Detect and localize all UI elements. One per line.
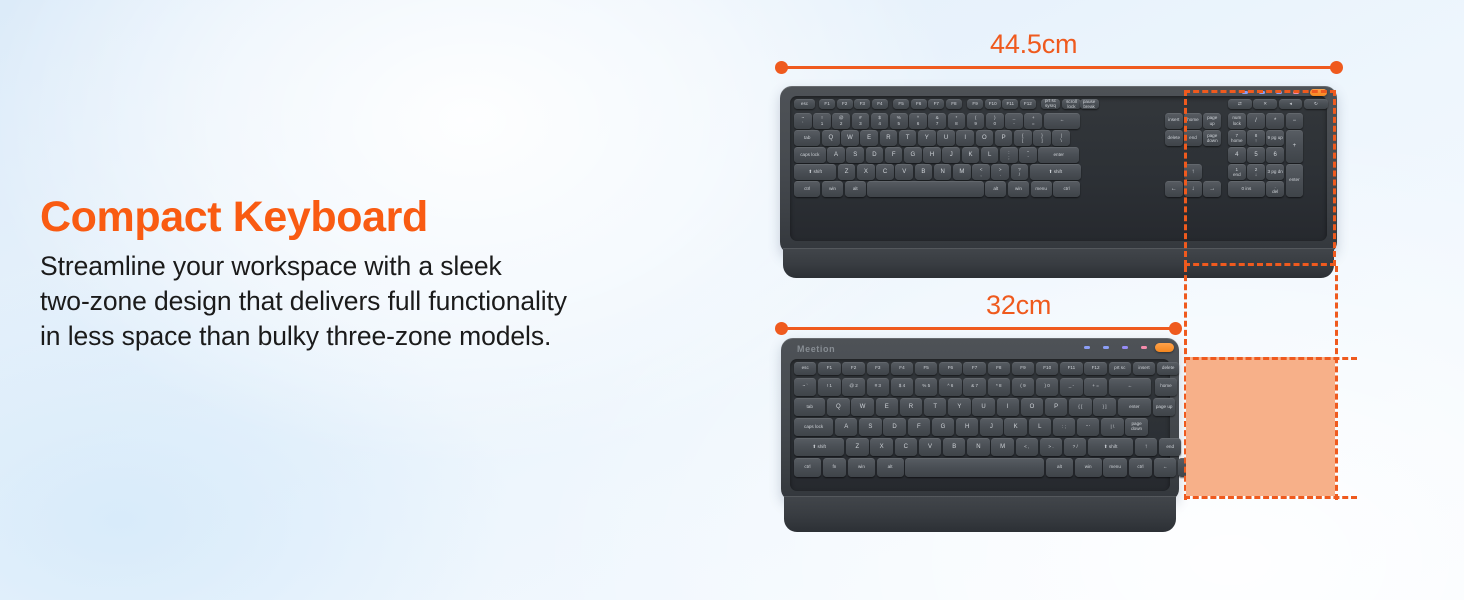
key-win[interactable]: win bbox=[1075, 458, 1102, 476]
key-n[interactable]: N bbox=[967, 438, 989, 456]
key-4[interactable]: $4 bbox=[871, 113, 889, 129]
key-insert[interactable]: insert bbox=[1165, 113, 1183, 129]
key-key[interactable]: {[ bbox=[1014, 130, 1032, 146]
key-7[interactable]: & 7 bbox=[963, 378, 985, 396]
key-fn[interactable]: fn bbox=[823, 458, 847, 476]
key-j[interactable]: J bbox=[942, 147, 960, 163]
key-f5[interactable]: F5 bbox=[893, 99, 909, 109]
key-insert[interactable]: insert bbox=[1133, 362, 1155, 375]
key-9[interactable]: ( 9 bbox=[1012, 378, 1034, 396]
key-key[interactable]: <, bbox=[972, 164, 990, 180]
key-f10[interactable]: F10 bbox=[1036, 362, 1058, 375]
key-8[interactable]: * 8 bbox=[988, 378, 1010, 396]
key-r[interactable]: R bbox=[880, 130, 898, 146]
key-f1[interactable]: F1 bbox=[819, 99, 835, 109]
key-key[interactable]: ← bbox=[1044, 113, 1081, 129]
key-alt[interactable]: alt bbox=[985, 181, 1006, 197]
status-led-4 bbox=[1141, 346, 1147, 349]
key-i[interactable]: I bbox=[997, 398, 1019, 416]
key-ctrl[interactable]: ctrl bbox=[794, 181, 820, 197]
key-key[interactable]: + = bbox=[1084, 378, 1106, 396]
key-esc[interactable]: esc bbox=[794, 99, 815, 109]
key-m[interactable]: M bbox=[991, 438, 1013, 456]
key-shift[interactable]: ⬆ shift bbox=[794, 438, 844, 456]
key-b[interactable]: B bbox=[943, 438, 965, 456]
dimension-line-full-size bbox=[782, 66, 1336, 69]
key-key[interactable]: :; bbox=[1000, 147, 1018, 163]
body-copy: Streamline your workspace with a sleek t… bbox=[40, 249, 712, 355]
key-f4[interactable]: F4 bbox=[891, 362, 913, 375]
key-win[interactable]: win bbox=[1008, 181, 1029, 197]
key-shift[interactable]: ⬆ shift bbox=[794, 164, 836, 180]
key-j[interactable]: J bbox=[980, 418, 1002, 436]
dimension-label-full-size: 44.5cm bbox=[990, 29, 1077, 60]
key-0[interactable]: ) 0 bbox=[1036, 378, 1058, 396]
key-w[interactable]: W bbox=[841, 130, 859, 146]
key-key[interactable]: | \ bbox=[1101, 418, 1123, 436]
key-b[interactable]: B bbox=[915, 164, 933, 180]
key-ctrl[interactable]: ctrl bbox=[1053, 181, 1079, 197]
key-prt-sc[interactable]: prt sc bbox=[1109, 362, 1131, 375]
key-key[interactable]: < , bbox=[1016, 438, 1038, 456]
key-key[interactable]: |\ bbox=[1052, 130, 1070, 146]
key-v[interactable]: V bbox=[919, 438, 941, 456]
dimension-label-compact: 32cm bbox=[986, 290, 1051, 321]
key-shift[interactable]: ⬆ shift bbox=[1030, 164, 1081, 180]
key-i[interactable]: I bbox=[956, 130, 974, 146]
key-f7[interactable]: F7 bbox=[963, 362, 985, 375]
compact-keyboard: Meetion escF1F2F3F4F5F6F7F8F9F10F11F12pr… bbox=[781, 338, 1179, 501]
key-5[interactable]: % 5 bbox=[915, 378, 937, 396]
key-c[interactable]: C bbox=[895, 438, 917, 456]
key-key[interactable]: ? / bbox=[1064, 438, 1086, 456]
key-k[interactable]: K bbox=[962, 147, 980, 163]
key-enter[interactable]: enter bbox=[1118, 398, 1152, 416]
key-f11[interactable]: F11 bbox=[1060, 362, 1082, 375]
key-key[interactable]: > . bbox=[1040, 438, 1062, 456]
key-f7[interactable]: F7 bbox=[928, 99, 944, 109]
key-a[interactable]: A bbox=[835, 418, 857, 436]
key-d[interactable]: D bbox=[883, 418, 905, 436]
removed-zone-outline bbox=[1184, 90, 1336, 266]
key-f5[interactable]: F5 bbox=[915, 362, 937, 375]
key-menu[interactable]: menu bbox=[1103, 458, 1127, 476]
key-home[interactable]: home bbox=[1155, 378, 1177, 396]
key-key[interactable]: : ; bbox=[1053, 418, 1075, 436]
key-l[interactable]: L bbox=[1029, 418, 1051, 436]
key-s[interactable]: S bbox=[846, 147, 864, 163]
key-key[interactable]: += bbox=[1024, 113, 1042, 129]
key-3[interactable]: # 3 bbox=[867, 378, 889, 396]
key-win[interactable]: win bbox=[848, 458, 875, 476]
key-v[interactable]: V bbox=[895, 164, 913, 180]
key-caps-lock[interactable]: caps lock bbox=[794, 418, 833, 436]
key-s[interactable]: S bbox=[859, 418, 881, 436]
key-page-up[interactable]: page up bbox=[1153, 398, 1175, 416]
key-f[interactable]: F bbox=[908, 418, 930, 436]
key-f4[interactable]: F4 bbox=[872, 99, 888, 109]
key-scroll-lock[interactable]: scrolllock bbox=[1062, 99, 1081, 109]
dimension-dot-right-compact bbox=[1169, 322, 1182, 335]
key-esc[interactable]: esc bbox=[794, 362, 816, 375]
key-g[interactable]: G bbox=[932, 418, 954, 436]
copy-block: Compact Keyboard Streamline your workspa… bbox=[40, 196, 720, 355]
key-z[interactable]: Z bbox=[838, 164, 856, 180]
key-pause-break[interactable]: pausebreak bbox=[1080, 99, 1099, 109]
key-h[interactable]: H bbox=[923, 147, 941, 163]
key-key[interactable]: ← bbox=[1154, 458, 1176, 476]
key-1[interactable]: ! 1 bbox=[818, 378, 840, 396]
key-key[interactable]: }] bbox=[1033, 130, 1051, 146]
key-6[interactable]: ^ 6 bbox=[939, 378, 961, 396]
key-key[interactable]: "' bbox=[1019, 147, 1037, 163]
key-2[interactable]: @ 2 bbox=[842, 378, 864, 396]
key-x[interactable]: X bbox=[870, 438, 892, 456]
key-key[interactable]: _- bbox=[1005, 113, 1023, 129]
key-z[interactable]: Z bbox=[846, 438, 868, 456]
key-y[interactable]: Y bbox=[948, 398, 970, 416]
guide-line-bottom bbox=[1184, 496, 1357, 499]
key-prt-sc-sysrq[interactable]: prt sc sysrq bbox=[1041, 99, 1060, 109]
key-t[interactable]: T bbox=[924, 398, 946, 416]
key-f6[interactable]: F6 bbox=[939, 362, 961, 375]
key-9[interactable]: (9 bbox=[967, 113, 985, 129]
key-0[interactable]: )0 bbox=[986, 113, 1004, 129]
key-h[interactable]: H bbox=[956, 418, 978, 436]
space-saved-highlight bbox=[1186, 357, 1335, 496]
key-f9[interactable]: F9 bbox=[1012, 362, 1034, 375]
key-delete[interactable]: delete bbox=[1165, 130, 1183, 146]
key-y[interactable]: Y bbox=[918, 130, 936, 146]
key-c[interactable]: C bbox=[876, 164, 894, 180]
key-x[interactable]: X bbox=[857, 164, 875, 180]
key-alt[interactable]: alt bbox=[877, 458, 904, 476]
key-g[interactable]: G bbox=[904, 147, 922, 163]
key-key[interactable]: ← bbox=[1109, 378, 1152, 396]
key-menu[interactable]: menu bbox=[1031, 181, 1052, 197]
key-d[interactable]: D bbox=[866, 147, 884, 163]
key-3[interactable]: #3 bbox=[852, 113, 870, 129]
key-f10[interactable]: F10 bbox=[985, 99, 1001, 109]
key-f12[interactable]: F12 bbox=[1084, 362, 1106, 375]
key-e[interactable]: E bbox=[860, 130, 878, 146]
page-title: Compact Keyboard bbox=[40, 196, 720, 239]
guide-line-right bbox=[1335, 266, 1338, 500]
key-f9[interactable]: F9 bbox=[967, 99, 983, 109]
key-f2[interactable]: F2 bbox=[837, 99, 853, 109]
compact-keyboard-palm-rest bbox=[784, 496, 1176, 532]
compact-keyboard-deck: escF1F2F3F4F5F6F7F8F9F10F11F12prt scinse… bbox=[790, 359, 1170, 491]
key-o[interactable]: O bbox=[1021, 398, 1043, 416]
key-caps-lock[interactable]: caps lock bbox=[794, 147, 826, 163]
key-p[interactable]: P bbox=[1045, 398, 1067, 416]
key-alt[interactable]: alt bbox=[845, 181, 866, 197]
key-shift[interactable]: ⬆ shift bbox=[1088, 438, 1133, 456]
status-led-2 bbox=[1103, 346, 1109, 349]
key-tab[interactable]: tab bbox=[794, 130, 820, 146]
key-key[interactable]: } ] bbox=[1093, 398, 1115, 416]
key-ctrl[interactable]: ctrl bbox=[1129, 458, 1153, 476]
key-f3[interactable]: F3 bbox=[867, 362, 889, 375]
key-w[interactable]: W bbox=[851, 398, 873, 416]
key-ctrl[interactable]: ctrl bbox=[794, 458, 821, 476]
key-4[interactable]: $ 4 bbox=[891, 378, 913, 396]
key-end[interactable]: end bbox=[1159, 438, 1181, 456]
key-key[interactable]: { [ bbox=[1069, 398, 1091, 416]
key-8[interactable]: *8 bbox=[948, 113, 966, 129]
dimension-dot-left-full-size bbox=[775, 61, 788, 74]
key-a[interactable]: A bbox=[827, 147, 845, 163]
key-f8[interactable]: F8 bbox=[988, 362, 1010, 375]
key-u[interactable]: U bbox=[937, 130, 955, 146]
key-e[interactable]: E bbox=[876, 398, 898, 416]
key-t[interactable]: T bbox=[899, 130, 917, 146]
key-key[interactable]: ?/ bbox=[1011, 164, 1029, 180]
key-key[interactable]: ~` bbox=[794, 113, 812, 129]
key-tab[interactable]: tab bbox=[794, 398, 825, 416]
key-page-down[interactable]: page down bbox=[1125, 418, 1147, 436]
key-f1[interactable]: F1 bbox=[818, 362, 840, 375]
key-key[interactable]: _ - bbox=[1060, 378, 1082, 396]
key-7[interactable]: &7 bbox=[928, 113, 946, 129]
key-f8[interactable]: F8 bbox=[946, 99, 962, 109]
key-f[interactable]: F bbox=[885, 147, 903, 163]
body-line-2: two-zone design that delivers full funct… bbox=[40, 284, 712, 319]
key-delete[interactable]: delete bbox=[1157, 362, 1179, 375]
key-1[interactable]: !1 bbox=[813, 113, 831, 129]
key-o[interactable]: O bbox=[976, 130, 994, 146]
key-alt[interactable]: alt bbox=[1046, 458, 1073, 476]
key-f2[interactable]: F2 bbox=[842, 362, 864, 375]
key-m[interactable]: M bbox=[953, 164, 971, 180]
power-button-icon[interactable] bbox=[1155, 343, 1174, 352]
brand-logo: Meetion bbox=[797, 344, 835, 354]
key-key[interactable]: >. bbox=[991, 164, 1009, 180]
key-key[interactable]: " ' bbox=[1077, 418, 1099, 436]
key-space[interactable] bbox=[905, 458, 1044, 476]
key-6[interactable]: ^6 bbox=[909, 113, 927, 129]
key-f6[interactable]: F6 bbox=[911, 99, 927, 109]
key-p[interactable]: P bbox=[995, 130, 1013, 146]
status-led-1 bbox=[1084, 346, 1090, 349]
status-led-3 bbox=[1122, 346, 1128, 349]
key-k[interactable]: K bbox=[1004, 418, 1026, 436]
key-f11[interactable]: F11 bbox=[1002, 99, 1018, 109]
key-enter[interactable]: enter bbox=[1038, 147, 1078, 163]
key-key[interactable]: ~ ` bbox=[794, 378, 816, 396]
key-q[interactable]: Q bbox=[822, 130, 840, 146]
key-key[interactable]: ↑ bbox=[1135, 438, 1157, 456]
key-f3[interactable]: F3 bbox=[854, 99, 870, 109]
key-arrow-left[interactable]: ← bbox=[1165, 181, 1183, 197]
key-r[interactable]: R bbox=[900, 398, 922, 416]
key-space[interactable] bbox=[867, 181, 983, 197]
promo-banner: Compact Keyboard Streamline your workspa… bbox=[0, 0, 1464, 600]
dimension-dot-right-full-size bbox=[1330, 61, 1343, 74]
key-u[interactable]: U bbox=[972, 398, 994, 416]
key-2[interactable]: @2 bbox=[832, 113, 850, 129]
key-5[interactable]: %5 bbox=[890, 113, 908, 129]
key-f12[interactable]: F12 bbox=[1020, 99, 1036, 109]
body-line-3: in less space than bulky three-zone mode… bbox=[40, 319, 712, 354]
body-line-1: Streamline your workspace with a sleek bbox=[40, 249, 712, 284]
guide-line-top bbox=[1184, 357, 1357, 360]
key-n[interactable]: N bbox=[934, 164, 952, 180]
dimension-dot-left-compact bbox=[775, 322, 788, 335]
key-win[interactable]: win bbox=[822, 181, 843, 197]
key-l[interactable]: L bbox=[981, 147, 999, 163]
key-q[interactable]: Q bbox=[827, 398, 849, 416]
dimension-line-compact bbox=[783, 327, 1175, 330]
